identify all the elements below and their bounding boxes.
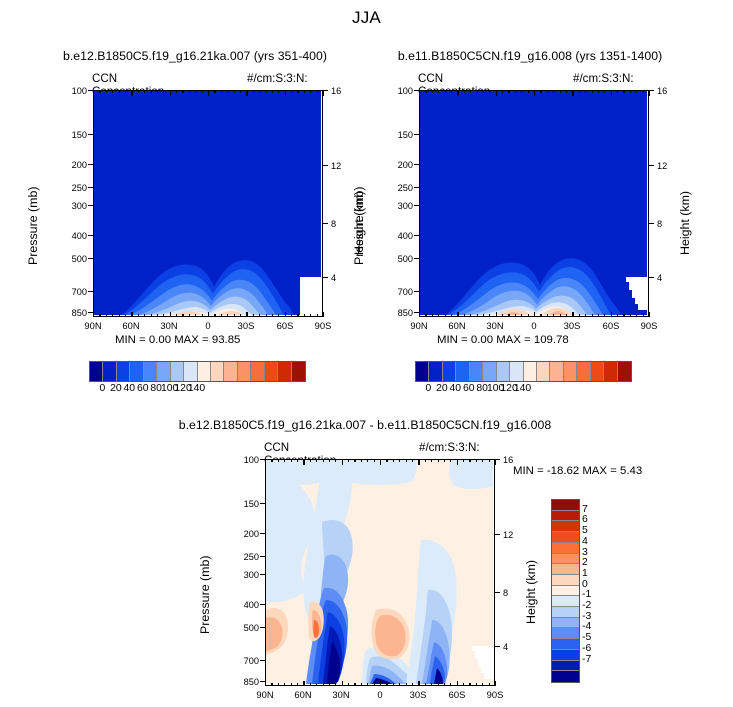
xtick-mark [399, 459, 400, 462]
xtick-mark [170, 90, 171, 96]
xtick-mark [477, 90, 478, 93]
ytick-mark [414, 258, 419, 259]
xtick-mark [489, 314, 490, 317]
panel-right-colorbar[interactable] [415, 361, 632, 382]
ytick-label: 150 [53, 130, 87, 140]
xtick-mark [502, 90, 503, 93]
ytick-label: 250 [53, 183, 87, 193]
xtick-mark [566, 314, 567, 317]
xtick-mark [259, 314, 260, 317]
xtick-mark [284, 683, 285, 686]
xtick-mark [99, 314, 100, 317]
ytick-mark [414, 235, 419, 236]
xtick-mark [508, 90, 509, 93]
panel-left-ylabel: Pressure (mb) [26, 187, 40, 266]
xtick-mark [515, 90, 516, 93]
xtick-mark [515, 314, 516, 317]
xtick-mark [310, 314, 311, 317]
colorbar-segment [198, 362, 211, 381]
xtick-mark [489, 459, 490, 462]
xtick-mark [470, 314, 471, 317]
xtick-mark [119, 90, 120, 93]
ytick-right-label: 4 [331, 273, 336, 283]
panel-right-minmax: MIN = 0.00 MAX = 109.78 [437, 334, 569, 346]
ytick-right-mark [323, 165, 328, 166]
panel-diff-colorbar[interactable] [551, 499, 580, 683]
xtick-mark [457, 90, 458, 96]
xtick-mark [444, 683, 445, 686]
xtick-mark [303, 459, 304, 465]
colorbar-segment [90, 362, 103, 381]
xtick-mark [419, 312, 420, 318]
xtick-mark [604, 90, 605, 93]
colorbar-tick-label: 0 [582, 579, 588, 590]
colorbar-segment [483, 362, 496, 381]
ytick-right-mark [649, 223, 654, 224]
colorbar-segment [144, 362, 157, 381]
xtick-mark [157, 314, 158, 317]
ytick-label: 200 [379, 160, 413, 170]
ytick-label: 100 [225, 455, 259, 465]
panel-diff-plot[interactable] [265, 459, 495, 686]
xtick-mark [540, 90, 541, 93]
xtick-mark [425, 459, 426, 462]
colorbar-segment [211, 362, 224, 381]
ytick-right-label: 12 [657, 161, 667, 171]
ytick-right-mark [495, 534, 500, 535]
ytick-label: 700 [53, 287, 87, 297]
xtick-mark [291, 459, 292, 462]
xtick-mark [138, 314, 139, 317]
xtick-mark [317, 314, 318, 317]
colorbar-segment [604, 362, 617, 381]
ytick-right-label: 8 [331, 219, 336, 229]
xtick-label: 0 [193, 320, 223, 331]
ytick-label: 300 [379, 201, 413, 211]
xtick-mark [304, 314, 305, 317]
colorbar-segment [224, 362, 237, 381]
xtick-mark [266, 314, 267, 317]
xtick-mark [412, 459, 413, 462]
panel-left-colorbar[interactable] [89, 361, 306, 382]
ytick-label: 500 [53, 254, 87, 264]
ytick-mark [260, 503, 265, 504]
xtick-mark [112, 314, 113, 317]
xtick-mark [476, 459, 477, 462]
ytick-label: 500 [379, 254, 413, 264]
xtick-mark [278, 90, 279, 93]
xtick-mark [361, 683, 362, 686]
xtick-mark [438, 683, 439, 686]
xtick-mark [469, 683, 470, 686]
xtick-mark [495, 459, 496, 465]
xtick-mark [572, 90, 573, 96]
ytick-mark [414, 291, 419, 292]
xtick-mark [348, 683, 349, 686]
xtick-mark [617, 90, 618, 93]
xtick-mark [380, 681, 381, 687]
xtick-mark [214, 314, 215, 317]
xtick-mark [393, 683, 394, 686]
xtick-mark [431, 459, 432, 462]
colorbar-segment [552, 543, 579, 554]
colorbar-segment [564, 362, 577, 381]
ytick-mark [88, 164, 93, 165]
xtick-mark [131, 312, 132, 318]
xtick-mark [464, 90, 465, 93]
xtick-mark [329, 459, 330, 462]
xtick-mark [303, 681, 304, 687]
xtick-label: 90N [78, 320, 108, 331]
xtick-mark [592, 90, 593, 93]
panel-left-units-label: #/cm:S:3:N: [247, 72, 308, 85]
ytick-mark [88, 134, 93, 135]
ytick-label: 250 [225, 552, 259, 562]
colorbar-segment [552, 607, 579, 618]
xtick-label: 60S [442, 689, 472, 700]
xtick-mark [265, 681, 266, 687]
xtick-mark [106, 314, 107, 317]
xtick-mark [208, 90, 209, 96]
xtick-mark [630, 314, 631, 317]
ytick-mark [88, 235, 93, 236]
xtick-mark [329, 683, 330, 686]
xtick-mark [271, 683, 272, 686]
xtick-mark [125, 90, 126, 93]
xtick-mark [291, 90, 292, 93]
xtick-mark [547, 314, 548, 317]
xtick-mark [572, 312, 573, 318]
xtick-label: 0 [519, 320, 549, 331]
colorbar-tick-label: 2 [582, 557, 588, 568]
xtick-mark [285, 312, 286, 318]
xtick-mark [272, 90, 273, 93]
xtick-mark [374, 683, 375, 686]
xtick-mark [234, 90, 235, 93]
colorbar-tick-label: 7 [582, 504, 588, 515]
colorbar-tick-label: -5 [582, 632, 591, 643]
xtick-mark [611, 90, 612, 96]
xtick-mark [496, 312, 497, 318]
xtick-mark [643, 314, 644, 317]
colorbar-segment [552, 511, 579, 522]
xtick-mark [643, 90, 644, 93]
xtick-label: 90S [480, 689, 510, 700]
xtick-label: 30S [557, 320, 587, 331]
xtick-mark [457, 681, 458, 687]
colorbar-segment [552, 628, 579, 639]
xtick-mark [418, 681, 419, 687]
xtick-mark [432, 90, 433, 93]
ytick-mark [88, 291, 93, 292]
colorbar-segment [577, 362, 590, 381]
xtick-mark [483, 314, 484, 317]
xtick-label: 30N [480, 320, 510, 331]
xtick-mark [297, 683, 298, 686]
xtick-mark [284, 459, 285, 462]
xtick-mark [482, 459, 483, 462]
ytick-right-label: 12 [331, 161, 341, 171]
panel-right-ylabel: Pressure (mb) [352, 187, 366, 266]
xtick-mark [227, 314, 228, 317]
colorbar-segment [157, 362, 170, 381]
xtick-mark [534, 312, 535, 318]
xtick-mark [553, 314, 554, 317]
xtick-mark [374, 459, 375, 462]
panel-right-contour-field [420, 91, 647, 315]
colorbar-segment [552, 650, 579, 661]
colorbar-segment [470, 362, 483, 381]
ytick-right-label: 12 [503, 530, 513, 540]
xtick-mark [579, 314, 580, 317]
xtick-mark [495, 681, 496, 687]
panel-right-plot[interactable] [419, 90, 649, 317]
xtick-mark [144, 314, 145, 317]
panel-diff-ylabel: Pressure (mb) [198, 556, 212, 635]
xtick-mark [649, 312, 650, 318]
ytick-right-mark [495, 646, 500, 647]
colorbar-segment [591, 362, 604, 381]
colorbar-segment [552, 671, 579, 682]
ytick-right-label: 16 [503, 455, 513, 465]
ytick-right-mark [649, 165, 654, 166]
xtick-mark [316, 459, 317, 462]
ytick-label: 150 [379, 130, 413, 140]
xtick-label: 90N [250, 689, 280, 700]
xtick-label: 0 [365, 689, 395, 700]
figure-title: JJA [0, 8, 733, 28]
xtick-mark [176, 90, 177, 93]
xtick-mark [202, 90, 203, 93]
xtick-mark [418, 459, 419, 465]
colorbar-segment [552, 521, 579, 532]
colorbar-segment [117, 362, 130, 381]
xtick-mark [271, 459, 272, 462]
xtick-mark [335, 683, 336, 686]
xtick-mark [623, 90, 624, 93]
xtick-mark [195, 314, 196, 317]
ytick-mark [260, 533, 265, 534]
xtick-mark [406, 683, 407, 686]
xtick-mark [450, 683, 451, 686]
xtick-mark [463, 459, 464, 462]
xtick-mark [240, 90, 241, 93]
panel-diff-minmax: MIN = -18.62 MAX = 5.43 [513, 465, 642, 477]
xtick-mark [317, 90, 318, 93]
ytick-label: 100 [379, 86, 413, 96]
colorbar-segment [456, 362, 469, 381]
xtick-mark [386, 683, 387, 686]
xtick-mark [469, 459, 470, 462]
xtick-mark [457, 312, 458, 318]
colorbar-tick-label: -3 [582, 611, 591, 622]
xtick-mark [585, 314, 586, 317]
ytick-right-label: 4 [657, 273, 662, 283]
ytick-right-label: 4 [503, 642, 508, 652]
ytick-mark [414, 134, 419, 135]
colorbar-tick-label: -2 [582, 600, 591, 611]
colorbar-tick-label: 140 [508, 383, 538, 394]
colorbar-segment [552, 661, 579, 672]
xtick-label: 60N [442, 320, 472, 331]
xtick-mark [534, 90, 535, 96]
xtick-mark [489, 90, 490, 93]
panel-left-plot[interactable] [93, 90, 323, 317]
colorbar-tick-label: -6 [582, 643, 591, 654]
xtick-mark [425, 314, 426, 317]
colorbar-tick-label: -7 [582, 654, 591, 665]
ytick-right-mark [649, 277, 654, 278]
xtick-mark [477, 314, 478, 317]
colorbar-segment [171, 362, 184, 381]
xtick-mark [310, 459, 311, 462]
xtick-mark [119, 314, 120, 317]
xtick-label: 60S [270, 320, 300, 331]
xtick-mark [342, 459, 343, 465]
colorbar-segment [537, 362, 550, 381]
ytick-label: 850 [53, 308, 87, 318]
ytick-label: 700 [225, 656, 259, 666]
xtick-mark [528, 314, 529, 317]
ytick-mark [260, 556, 265, 557]
xtick-mark [202, 314, 203, 317]
xtick-mark [246, 312, 247, 318]
xtick-mark [348, 459, 349, 462]
xtick-mark [182, 314, 183, 317]
ytick-label: 300 [53, 201, 87, 211]
xtick-mark [598, 314, 599, 317]
panel-left-title: b.e12.B1850C5.f19_g16.21ka.007 (yrs 351-… [30, 49, 360, 63]
panel-diff-ylabel-right: Height (km) [524, 560, 538, 624]
colorbar-segment [524, 362, 537, 381]
xtick-label: 30S [403, 689, 433, 700]
xtick-mark [354, 459, 355, 462]
ytick-mark [414, 164, 419, 165]
ytick-mark [260, 604, 265, 605]
xtick-mark [304, 90, 305, 93]
xtick-mark [182, 90, 183, 93]
xtick-mark [445, 314, 446, 317]
xtick-mark [528, 90, 529, 93]
xtick-mark [93, 90, 94, 96]
xtick-mark [208, 312, 209, 318]
xtick-mark [214, 90, 215, 93]
xtick-mark [106, 90, 107, 93]
colorbar-tick-label: 5 [582, 525, 588, 536]
xtick-mark [560, 90, 561, 93]
xtick-mark [502, 314, 503, 317]
ytick-mark [88, 187, 93, 188]
xtick-mark [438, 314, 439, 317]
xtick-label: 30S [231, 320, 261, 331]
xtick-mark [253, 90, 254, 93]
panel-diff-title: b.e12.B1850C5.f19_g16.21ka.007 - b.e11.B… [120, 418, 610, 432]
ytick-label: 300 [225, 570, 259, 580]
xtick-mark [425, 90, 426, 93]
ytick-right-label: 16 [331, 86, 341, 96]
xtick-mark [630, 90, 631, 93]
xtick-mark [451, 90, 452, 93]
xtick-mark [297, 90, 298, 93]
xtick-mark [151, 314, 152, 317]
ytick-mark [88, 258, 93, 259]
colorbar-segment [497, 362, 510, 381]
xtick-mark [457, 459, 458, 465]
xtick-mark [227, 90, 228, 93]
xtick-mark [566, 90, 567, 93]
ytick-label: 200 [53, 160, 87, 170]
xtick-mark [521, 314, 522, 317]
colorbar-segment [552, 564, 579, 575]
xtick-mark [451, 314, 452, 317]
ytick-label: 400 [53, 231, 87, 241]
xtick-mark [342, 681, 343, 687]
xtick-mark [272, 314, 273, 317]
colorbar-segment [416, 362, 429, 381]
xtick-mark [425, 683, 426, 686]
xtick-mark [93, 312, 94, 318]
xtick-mark [361, 459, 362, 462]
xtick-mark [234, 314, 235, 317]
xtick-mark [412, 683, 413, 686]
xtick-mark [323, 683, 324, 686]
ytick-label: 400 [225, 600, 259, 610]
xtick-mark [553, 90, 554, 93]
colorbar-segment [552, 532, 579, 543]
colorbar-segment [552, 618, 579, 629]
xtick-mark [170, 312, 171, 318]
xtick-mark [176, 314, 177, 317]
xtick-mark [406, 459, 407, 462]
xtick-mark [297, 459, 298, 462]
xtick-mark [611, 312, 612, 318]
ytick-mark [260, 574, 265, 575]
xtick-mark [285, 90, 286, 96]
ytick-right-label: 8 [657, 219, 662, 229]
xtick-mark [419, 90, 420, 96]
xtick-mark [393, 459, 394, 462]
xtick-label: 90S [634, 320, 664, 331]
xtick-mark [131, 90, 132, 96]
colorbar-segment [552, 500, 579, 511]
xtick-mark [617, 314, 618, 317]
xtick-mark [323, 312, 324, 318]
ytick-label: 700 [379, 287, 413, 297]
xtick-mark [489, 683, 490, 686]
xtick-mark [323, 90, 324, 96]
xtick-mark [604, 314, 605, 317]
xtick-mark [592, 314, 593, 317]
ytick-label: 400 [379, 231, 413, 241]
ytick-right-label: 8 [503, 588, 508, 598]
ytick-label: 850 [225, 677, 259, 687]
ytick-right-mark [323, 277, 328, 278]
xtick-mark [380, 459, 381, 465]
colorbar-tick-label: -1 [582, 589, 591, 600]
xtick-mark [291, 683, 292, 686]
xtick-mark [521, 90, 522, 93]
colorbar-segment [443, 362, 456, 381]
panel-left-minmax: MIN = 0.00 MAX = 93.85 [115, 334, 240, 346]
ytick-right-label: 16 [657, 86, 667, 96]
xtick-mark [99, 90, 100, 93]
xtick-mark [265, 459, 266, 465]
xtick-mark [399, 683, 400, 686]
ytick-label: 200 [225, 529, 259, 539]
colorbar-segment [552, 575, 579, 586]
colorbar-segment [251, 362, 264, 381]
xtick-mark [482, 683, 483, 686]
